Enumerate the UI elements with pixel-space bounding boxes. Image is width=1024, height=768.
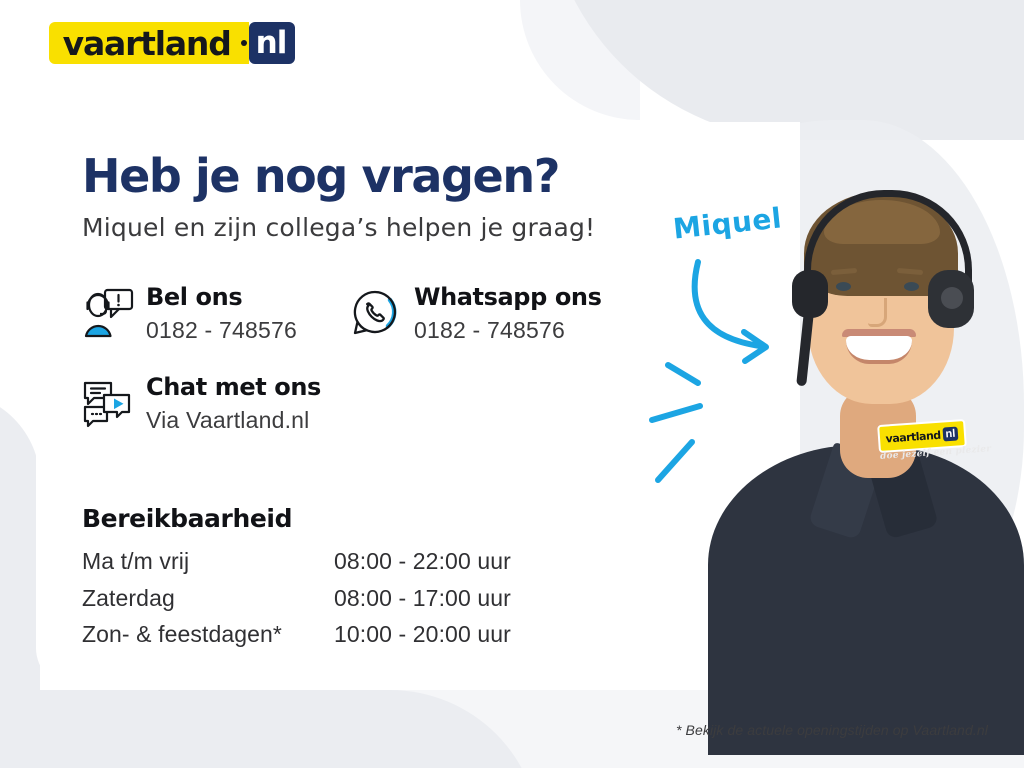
dot-separator-icon [241,22,249,64]
contact-value-chat: Via Vaartland.nl [146,407,321,433]
availability-table: Ma t/m vrij 08:00 - 22:00 uur Zaterdag 0… [82,548,511,658]
contact-item-whatsapp[interactable]: Whatsapp ons 0182 - 748576 [346,282,601,343]
contact-item-chat[interactable]: Chat met ons Via Vaartland.nl [78,372,321,433]
contact-value-call: 0182 - 748576 [146,317,297,343]
polo-logo-tld: nl [942,426,959,441]
polo-logo-wordmark: vaartland [885,428,941,445]
background-blob-top-right [545,0,1024,140]
availability-day: Zaterdag [82,585,334,622]
table-row: Zon- & feestdagen* 10:00 - 20:00 uur [82,621,511,658]
contact-title-call: Bel ons [146,284,297,312]
availability-hours: 10:00 - 20:00 uur [334,621,511,658]
contact-banner: vaartland nl vaartland nl [0,0,1024,768]
table-row: Ma t/m vrij 08:00 - 22:00 uur [82,548,511,585]
page-subtitle: Miquel en zijn collega’s helpen je graag… [82,213,595,243]
whatsapp-phone-bubble-icon [346,284,404,342]
availability-day: Zon- & feestdagen* [82,621,334,658]
chat-bubbles-play-icon [78,374,136,432]
background-blob-top-right-fade [520,0,640,120]
brand-logo[interactable]: vaartland nl [32,8,312,78]
logo-tld: nl [256,28,287,59]
background-blob-left [0,392,40,768]
logo-tld-block: nl [249,22,296,64]
availability-hours: 08:00 - 17:00 uur [334,585,511,622]
availability-title: Bereikbaarheid [82,504,292,533]
page-title: Heb je nog vragen? [82,152,559,202]
logo-wordmark-block: vaartland [49,22,241,64]
contact-title-whatsapp: Whatsapp ons [414,284,601,312]
logo-wordmark: vaartland [63,27,231,60]
contact-item-call[interactable]: Bel ons 0182 - 748576 [78,282,297,343]
contact-title-chat: Chat met ons [146,374,321,402]
background-blob-bottom-left [0,690,540,768]
person-headset-speech-bubble-icon [78,284,136,342]
table-row: Zaterdag 08:00 - 17:00 uur [82,585,511,622]
footnote: * Bekijk de actuele openingstijden op Va… [676,722,988,738]
availability-hours: 08:00 - 22:00 uur [334,548,511,585]
contact-value-whatsapp: 0182 - 748576 [414,317,601,343]
availability-day: Ma t/m vrij [82,548,334,585]
